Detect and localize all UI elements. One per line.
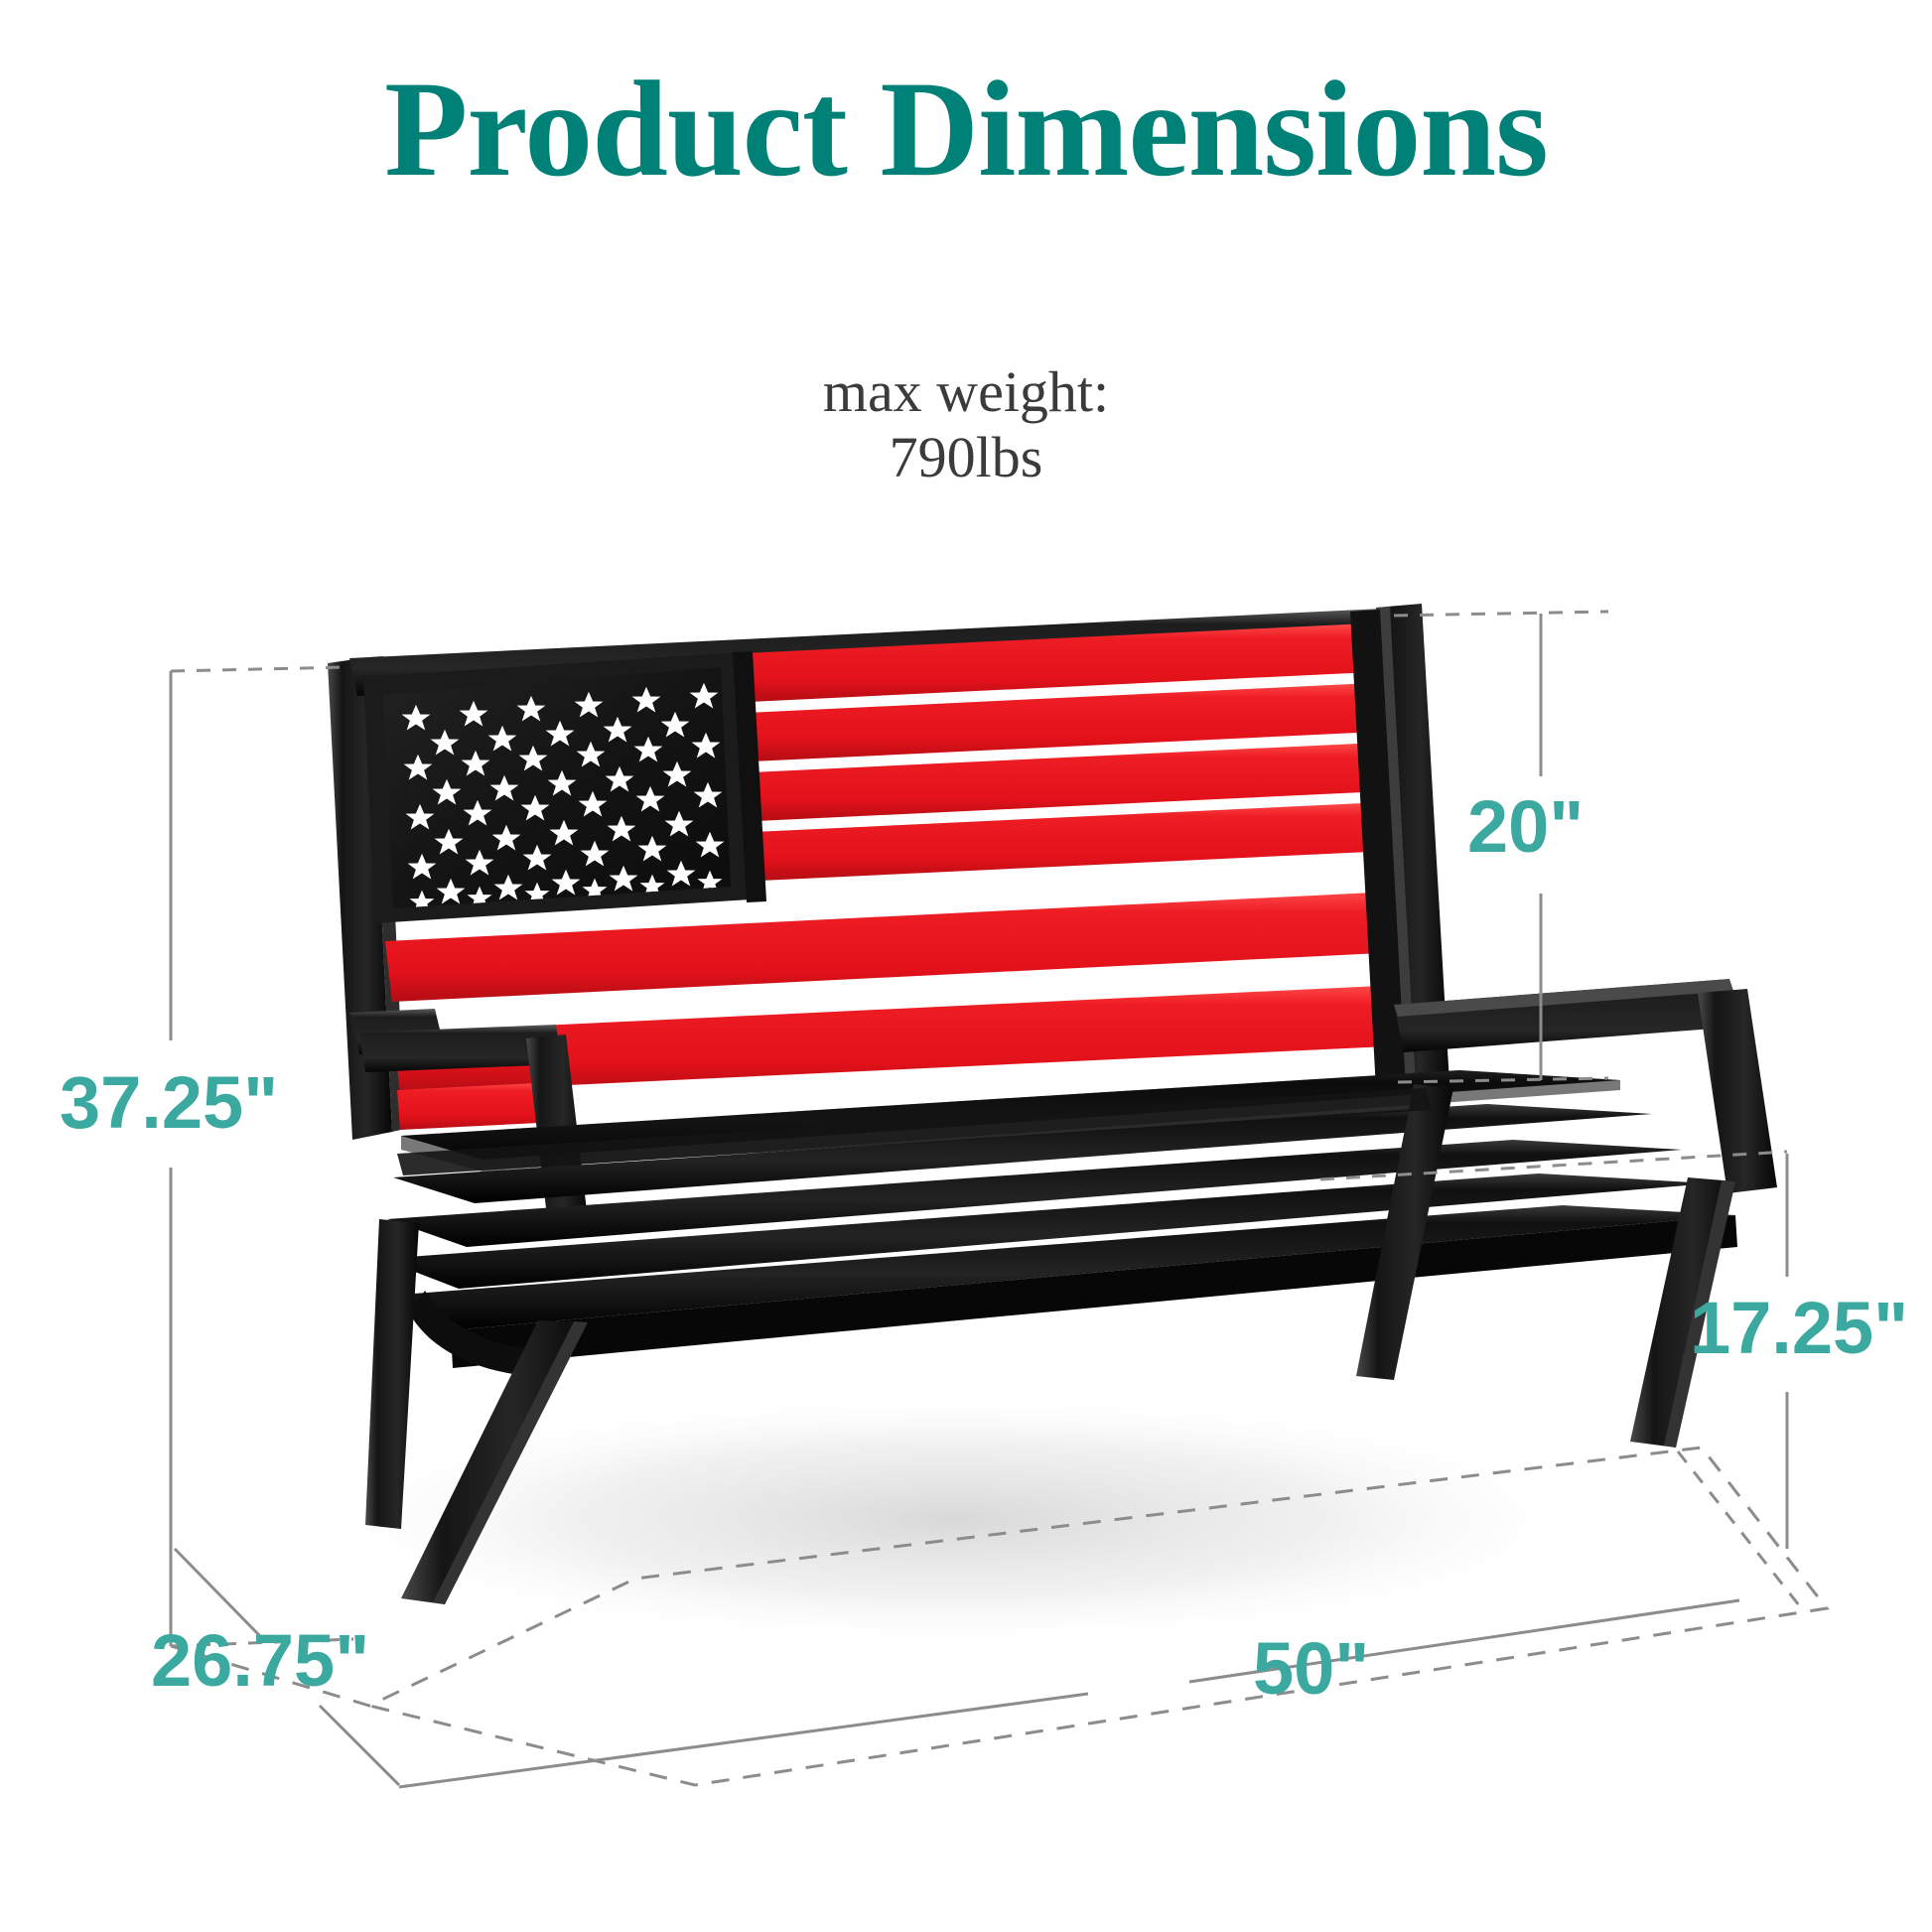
dimension-label-seat-height: 17.25" [1690, 1286, 1908, 1370]
dimension-label-width: 50" [1253, 1626, 1369, 1711]
guide-depth-lower [320, 1706, 399, 1785]
product-dimensions-infographic: Product Dimensions max weight: 790lbs [0, 0, 1932, 1932]
dimension-label-depth: 26.75" [151, 1618, 369, 1703]
guide-height-top-lead [171, 667, 347, 671]
guide-width-left [399, 1694, 1088, 1787]
backrest-upper-red-slats [743, 623, 1390, 881]
guide-back-top-lead [1394, 612, 1608, 616]
dimension-label-backrest-height: 20" [1467, 784, 1584, 869]
guide-seat-floor-lead [1678, 1451, 1803, 1610]
armrest-right-front-post [1698, 989, 1777, 1193]
dimension-label-overall-height: 37.25" [60, 1060, 278, 1145]
